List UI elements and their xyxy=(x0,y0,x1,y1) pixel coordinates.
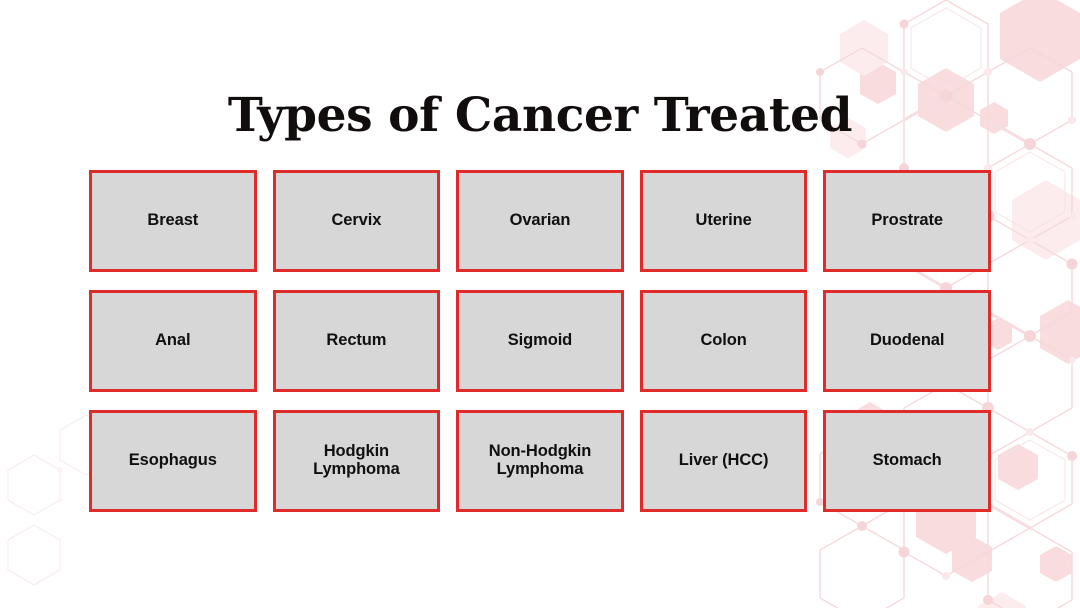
cancer-type-card[interactable]: Cervix xyxy=(273,170,441,272)
cancer-type-card[interactable]: Anal xyxy=(89,290,257,392)
grid-row: Breast Cervix Ovarian Uterine Prostrate xyxy=(89,170,991,272)
grid-row: Anal Rectum Sigmoid Colon Duodenal xyxy=(89,290,991,392)
cancer-type-label: Rectum xyxy=(326,332,386,350)
cancer-type-label: Sigmoid xyxy=(508,332,572,350)
slide-title-text: Types of Cancer Treated xyxy=(228,92,852,141)
cancer-type-card[interactable]: Duodenal xyxy=(823,290,991,392)
cancer-type-label: Colon xyxy=(700,332,746,350)
slide-title: Types of Cancer Treated xyxy=(0,92,1080,141)
cancer-type-card[interactable]: Sigmoid xyxy=(456,290,624,392)
cancer-type-card[interactable]: Rectum xyxy=(273,290,441,392)
slide-canvas: Types of Cancer Treated Breast Cervix Ov… xyxy=(0,0,1080,608)
cancer-type-label: Non-Hodgkin Lymphoma xyxy=(489,443,591,479)
cancer-type-card[interactable]: Stomach xyxy=(823,410,991,512)
cancer-type-label: Cervix xyxy=(331,212,381,230)
cancer-type-card[interactable]: Uterine xyxy=(640,170,808,272)
cancer-type-label: Anal xyxy=(155,332,190,350)
cancer-type-card[interactable]: Liver (HCC) xyxy=(640,410,808,512)
cancer-type-label: Esophagus xyxy=(129,452,217,470)
cancer-type-card[interactable]: Esophagus xyxy=(89,410,257,512)
cancer-type-label: Breast xyxy=(147,212,198,230)
cancer-type-card[interactable]: Breast xyxy=(89,170,257,272)
cancer-type-label: Ovarian xyxy=(510,212,571,230)
cancer-type-card[interactable]: Prostrate xyxy=(823,170,991,272)
cancer-type-label: Stomach xyxy=(873,452,942,470)
cancer-type-label: Liver (HCC) xyxy=(679,452,769,470)
cancer-type-label: Duodenal xyxy=(870,332,944,350)
grid-row: Esophagus Hodgkin Lymphoma Non-Hodgkin L… xyxy=(89,410,991,512)
cancer-type-card[interactable]: Non-Hodgkin Lymphoma xyxy=(456,410,624,512)
cancer-type-card[interactable]: Ovarian xyxy=(456,170,624,272)
cancer-type-label: Hodgkin Lymphoma xyxy=(313,443,400,479)
cancer-type-card[interactable]: Colon xyxy=(640,290,808,392)
cancer-type-label: Prostrate xyxy=(871,212,943,230)
cancer-type-label: Uterine xyxy=(696,212,752,230)
cancer-type-card[interactable]: Hodgkin Lymphoma xyxy=(273,410,441,512)
cancer-types-grid: Breast Cervix Ovarian Uterine Prostrate … xyxy=(89,170,991,512)
